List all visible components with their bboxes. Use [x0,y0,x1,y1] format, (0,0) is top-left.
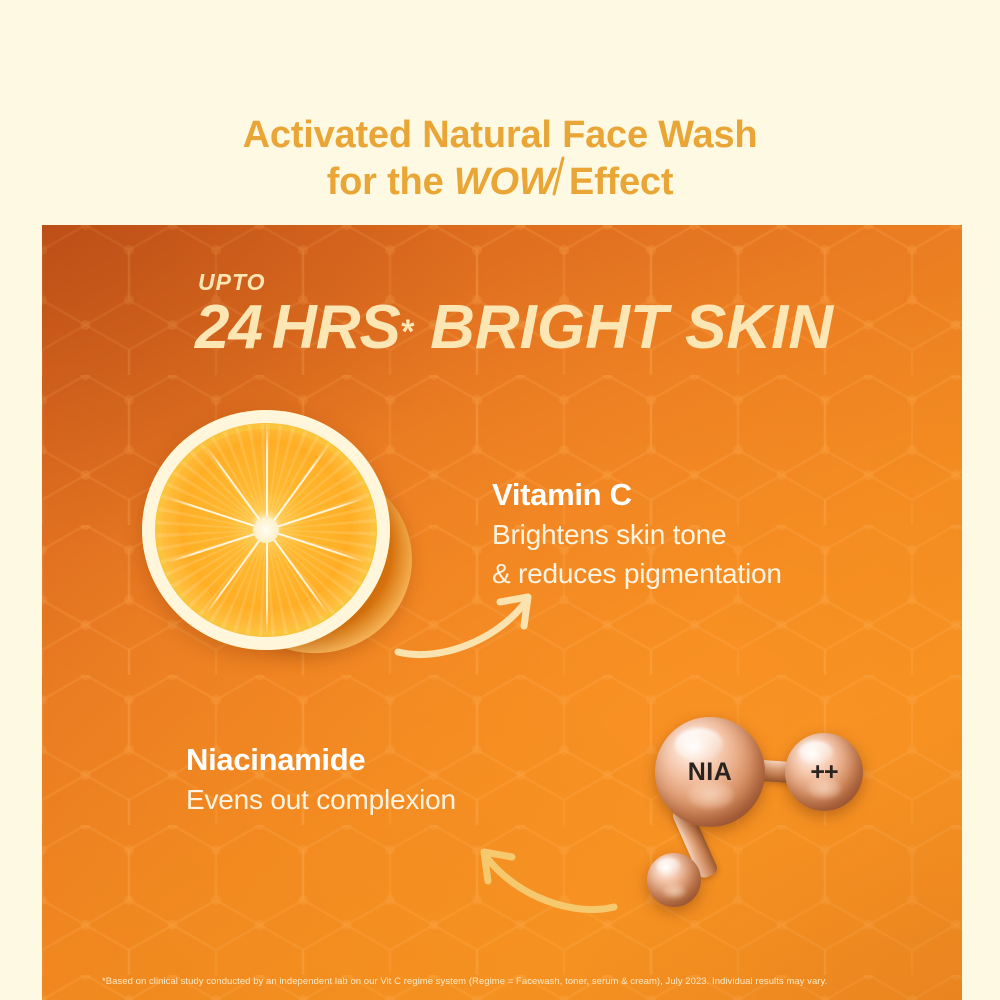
claim-benefit: BRIGHT SKIN [430,293,833,362]
molecule-icon: ++ NIA [637,705,907,920]
page-title-line-2-prefix: for the [327,161,454,203]
orange-slice-icon [142,410,422,670]
atom-label: NIA [655,717,765,827]
banner-root: Activated Natural Face Wash for the WOW … [0,0,1000,1000]
ingredient-desc-line-2: & reduces pigmentation [492,554,782,593]
footnote-disclaimer: *Based on clinical study conducted by an… [102,975,932,988]
claim-asterisk: * [400,313,412,351]
curved-arrow-icon [390,580,550,675]
claim-upto: UPTO [198,270,833,294]
hero-panel: UPTO 24HRS*BRIGHT SKIN [42,225,962,1000]
claim-duration: 24 [195,293,262,362]
ingredient-title: Vitamin C [492,475,782,515]
page-title-line-1: Activated Natural Face Wash [243,114,758,156]
molecule-atom-main: NIA [655,717,765,827]
ingredient-desc-line-1: Evens out complexion [186,780,456,819]
ingredient-desc-line-1: Brightens skin tone [492,515,782,554]
orange-slice-front [142,410,390,650]
atom-label [647,853,701,907]
atom-label: ++ [785,733,863,811]
claim-headline: UPTO 24HRS*BRIGHT SKIN [195,270,833,361]
ingredient-niacinamide: Niacinamide Evens out complexion [186,740,456,819]
page-title-line-2-suffix: Effect [559,161,674,203]
claim-unit: HRS [272,293,400,362]
brand-wow: WOW [454,161,559,203]
molecule-atom-secondary: ++ [785,733,863,811]
claim-main-line: 24HRS*BRIGHT SKIN [195,295,833,361]
curved-arrow-icon [462,835,622,930]
orange-center-pith [253,517,279,543]
ingredient-vitamin-c: Vitamin C Brightens skin tone & reduces … [492,475,782,593]
molecule-atom-tertiary [647,853,701,907]
page-title-line-2: for the WOW Effect [0,159,1000,206]
ingredient-title: Niacinamide [186,740,456,780]
page-title: Activated Natural Face Wash for the WOW … [0,112,1000,206]
